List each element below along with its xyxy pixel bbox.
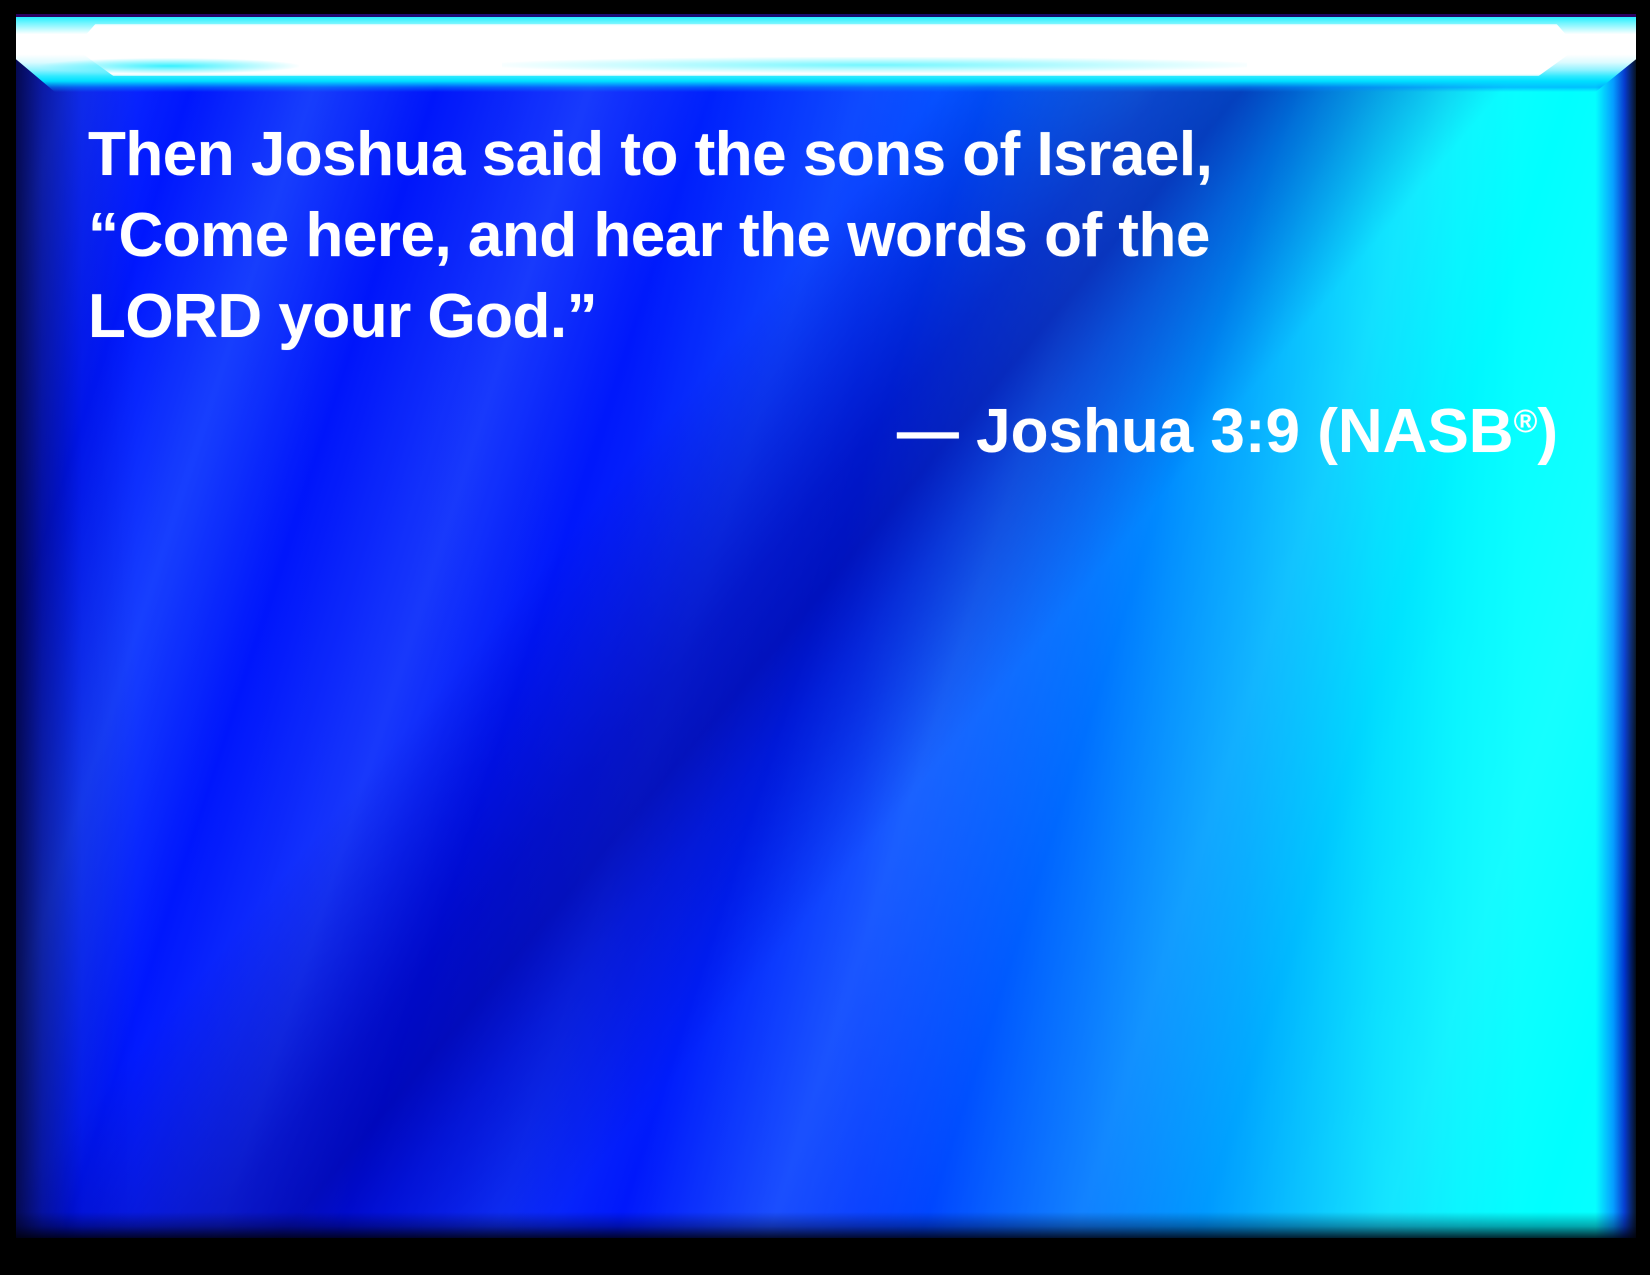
verse-line-2: “Come here, and hear the words of the [88, 195, 1568, 276]
attribution-text-before-mark: — Joshua 3:9 (NASB [897, 397, 1514, 466]
verse-line-3: LORD your God.” [88, 276, 1568, 357]
registered-trademark-icon: ® [1514, 403, 1538, 439]
attribution-text-after-mark: ) [1537, 397, 1558, 466]
verse-attribution: — Joshua 3:9 (NASB®) [88, 381, 1568, 472]
slide-artwork-panel: Then Joshua said to the sons of Israel, … [16, 14, 1636, 1238]
verse-content: Then Joshua said to the sons of Israel, … [88, 114, 1568, 472]
verse-line-1: Then Joshua said to the sons of Israel, [88, 114, 1568, 195]
verse-slide: Then Joshua said to the sons of Israel, … [0, 0, 1650, 1275]
